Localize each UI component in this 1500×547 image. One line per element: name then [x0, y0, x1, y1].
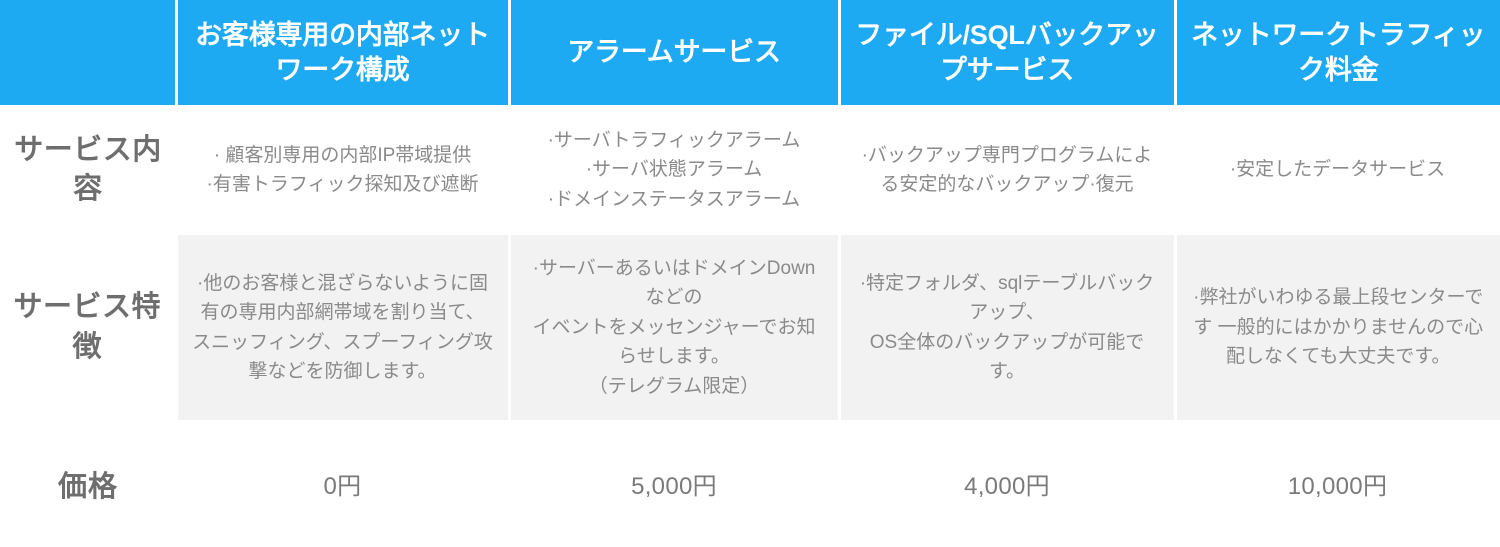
- column-header-backup-service: ファイル/SQLバックアップサービス: [839, 0, 1175, 105]
- column-header-network-traffic: ネットワークトラフィック料金: [1175, 0, 1500, 105]
- service-pricing-table: お客様専用の内部ネットワーク構成 アラームサービス ファイル/SQLバックアップ…: [0, 0, 1500, 547]
- cell-price-network-traffic: 10,000円: [1175, 420, 1500, 547]
- cell-service-feature-backup-service: ·特定フォルダ、sqlテーブルバックアップ、 OS全体のバックアップが可能です。: [839, 235, 1175, 420]
- cell-service-content-backup-service: ·バックアップ専門プログラムによる安定的なバックアップ·復元: [839, 105, 1175, 235]
- cell-price-alarm-service: 5,000円: [509, 420, 839, 547]
- header-row: お客様専用の内部ネットワーク構成 アラームサービス ファイル/SQLバックアップ…: [0, 0, 1500, 105]
- row-label-price: 価格: [0, 420, 176, 547]
- cell-service-feature-network-traffic: ·弊社がいわゆる最上段センターです 一般的にはかかりませんので心配しなくても大丈…: [1175, 235, 1500, 420]
- table-row-service-content: サービス内容 · 顧客別専用の内部IP帯域提供 ·有害トラフィック探知及び遮断 …: [0, 105, 1500, 235]
- column-header-alarm-service: アラームサービス: [509, 0, 839, 105]
- header-corner-cell: [0, 0, 176, 105]
- table-row-price: 価格 0円 5,000円 4,000円 10,000円: [0, 420, 1500, 547]
- table-body: サービス内容 · 顧客別専用の内部IP帯域提供 ·有害トラフィック探知及び遮断 …: [0, 105, 1500, 547]
- cell-price-backup-service: 4,000円: [839, 420, 1175, 547]
- cell-service-content-alarm-service: ·サーバトラフィックアラーム ·サーバ状態アラーム ·ドメインステータスアラーム: [509, 105, 839, 235]
- cell-service-content-network-traffic: ·安定したデータサービス: [1175, 105, 1500, 235]
- cell-service-feature-internal-network: ·他のお客様と混ざらないように固有の専用内部網帯域を割り当て、スニッフィング、ス…: [176, 235, 509, 420]
- column-header-internal-network: お客様専用の内部ネットワーク構成: [176, 0, 509, 105]
- table-header: お客様専用の内部ネットワーク構成 アラームサービス ファイル/SQLバックアップ…: [0, 0, 1500, 105]
- cell-service-feature-alarm-service: ·サーバーあるいはドメインDown などの イベントをメッセンジャーでお知らせし…: [509, 235, 839, 420]
- cell-service-content-internal-network: · 顧客別専用の内部IP帯域提供 ·有害トラフィック探知及び遮断: [176, 105, 509, 235]
- row-label-service-feature: サービス特徴: [0, 235, 176, 420]
- cell-price-internal-network: 0円: [176, 420, 509, 547]
- table-row-service-feature: サービス特徴 ·他のお客様と混ざらないように固有の専用内部網帯域を割り当て、スニ…: [0, 235, 1500, 420]
- row-label-service-content: サービス内容: [0, 105, 176, 235]
